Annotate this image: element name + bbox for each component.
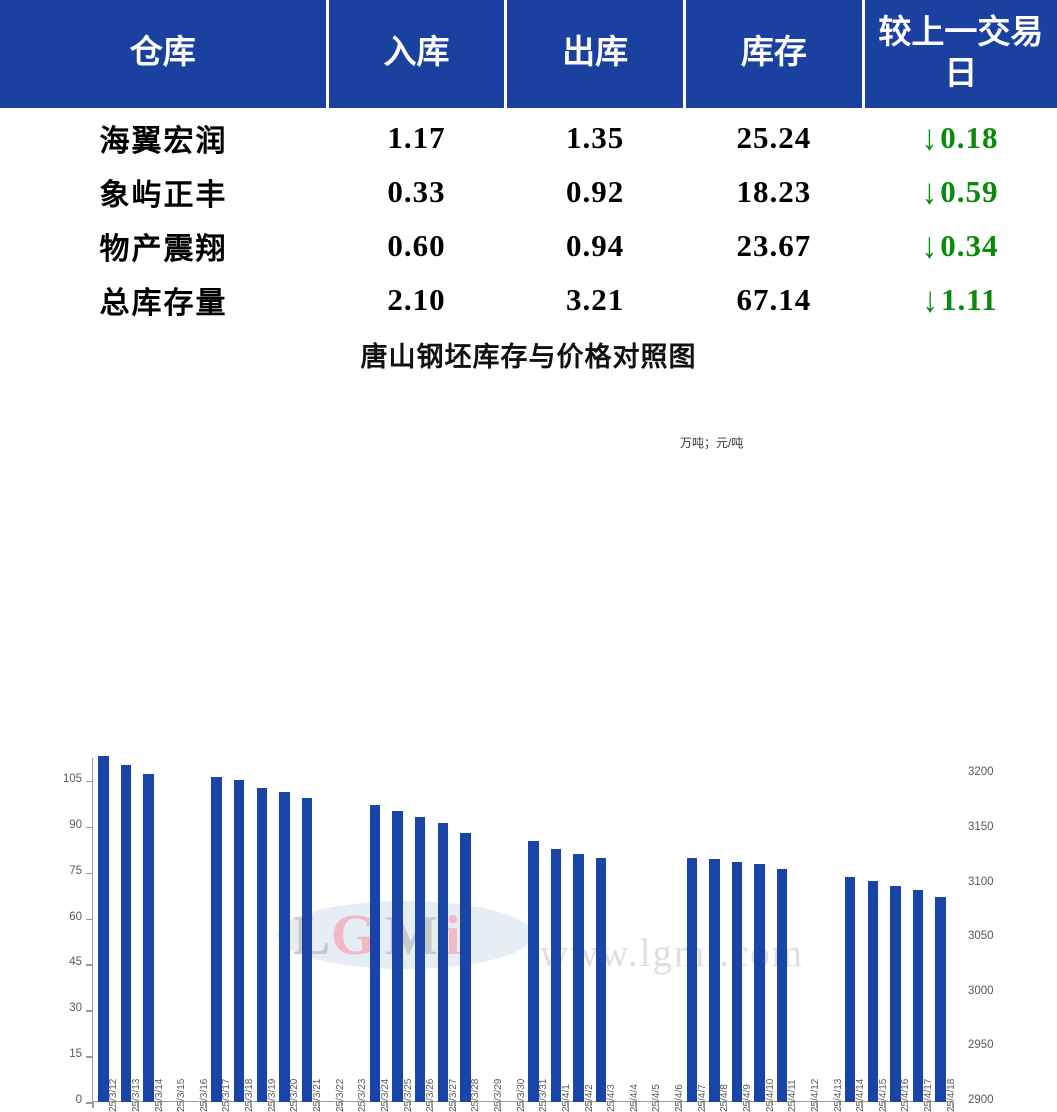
x-axis-tick-mark [816, 1102, 818, 1108]
chart-bar [868, 881, 878, 1102]
cell-inbound: 0.60 [327, 219, 506, 273]
column-header-change: 较上一交易日 [863, 0, 1057, 110]
y2-axis-tick-label: 3150 [968, 821, 1008, 833]
x-axis-tick-mark [613, 1102, 615, 1108]
table-body: 海翼宏润1.171.3525.24↓0.18象屿正丰0.330.9218.23↓… [0, 110, 1057, 328]
column-header-warehouse: 仓库 [0, 0, 327, 110]
table-row: 物产震翔0.600.9423.67↓0.34 [0, 219, 1057, 273]
x-axis-tick-mark [409, 1102, 411, 1108]
chart-bar [370, 805, 380, 1102]
cell-change: ↓1.11 [863, 273, 1057, 327]
y-axis-tick-label: 15 [48, 1048, 82, 1060]
column-header-outbound: 出库 [506, 0, 685, 110]
cell-change: ↓0.18 [863, 110, 1057, 166]
y-axis-tick-mark [86, 827, 92, 829]
y-axis-tick-label: 30 [48, 1002, 82, 1014]
column-header-inbound: 入库 [327, 0, 506, 110]
cell-change-value: 1.11 [941, 282, 998, 317]
chart-bar [279, 792, 289, 1102]
x-axis-tick-mark [680, 1102, 682, 1108]
chart-bar [143, 774, 153, 1102]
y-axis-tick-mark [86, 781, 92, 783]
cell-change-value: 0.18 [940, 120, 998, 155]
chart-bar [121, 765, 131, 1102]
x-axis-tick-mark [748, 1102, 750, 1108]
x-axis-tick-mark [929, 1102, 931, 1108]
warehouse-table: 仓库 入库 出库 库存 较上一交易日 海翼宏润1.171.3525.24↓0.1… [0, 0, 1057, 327]
x-axis-tick-mark [296, 1102, 298, 1108]
x-axis-tick-mark [273, 1102, 275, 1108]
y-axis-tick-label: 0 [48, 1094, 82, 1106]
table-row: 海翼宏润1.171.3525.24↓0.18 [0, 110, 1057, 166]
x-axis-tick-mark [567, 1102, 569, 1108]
cell-warehouse-name: 海翼宏润 [0, 110, 327, 166]
x-axis-tick-mark [907, 1102, 909, 1108]
y-axis-tick-label: 60 [48, 911, 82, 923]
x-axis-tick-mark [364, 1102, 366, 1108]
table-row: 总库存量2.103.2167.14↓1.11 [0, 273, 1057, 327]
arrow-down-icon: ↓ [922, 117, 939, 158]
chart-bar [845, 877, 855, 1102]
x-axis-tick-mark [341, 1102, 343, 1108]
cell-outbound: 0.94 [506, 219, 685, 273]
chart-bar [460, 833, 470, 1102]
x-axis-tick-mark [635, 1102, 637, 1108]
chart-bar [98, 756, 108, 1102]
chart-bar [754, 864, 764, 1102]
x-axis-tick-mark [92, 1102, 94, 1108]
chart-bar [709, 859, 719, 1102]
x-axis-tick-mark [703, 1102, 705, 1108]
x-axis-tick-mark [250, 1102, 252, 1108]
x-axis-tick-mark [590, 1102, 592, 1108]
cell-inbound: 0.33 [327, 165, 506, 219]
chart-bar [234, 780, 244, 1102]
x-axis-tick-mark [318, 1102, 320, 1108]
chart-bar [913, 890, 923, 1102]
cell-warehouse-name: 象屿正丰 [0, 165, 327, 219]
x-axis-tick-mark [861, 1102, 863, 1108]
y-axis-tick-label: 75 [48, 865, 82, 877]
y2-axis-tick-label: 3200 [968, 766, 1008, 778]
chart-bar [257, 788, 267, 1102]
cell-stock: 18.23 [684, 165, 863, 219]
cell-change: ↓0.34 [863, 219, 1057, 273]
chart-bar [551, 849, 561, 1102]
y-axis-tick-mark [86, 1056, 92, 1058]
chart-bar [573, 854, 583, 1102]
x-axis-tick-mark [658, 1102, 660, 1108]
cell-warehouse-name: 物产震翔 [0, 219, 327, 273]
y-axis-tick-mark [86, 964, 92, 966]
chart-bar [438, 823, 448, 1102]
chart-bar [890, 886, 900, 1102]
x-axis-tick-mark [454, 1102, 456, 1108]
y2-axis-tick-label: 3000 [968, 985, 1008, 997]
cell-change-value: 0.59 [940, 174, 998, 209]
chart-bar [528, 841, 538, 1102]
arrow-down-icon: ↓ [922, 225, 939, 266]
column-header-stock: 库存 [684, 0, 863, 110]
y2-axis-tick-label: 2900 [968, 1094, 1008, 1106]
chart-bar [935, 897, 945, 1102]
chart-bar [732, 862, 742, 1102]
plot-area: 0153045607590105290029503000305031003150… [0, 327, 1057, 878]
y2-axis-tick-label: 3100 [968, 876, 1008, 888]
x-axis-tick-mark [431, 1102, 433, 1108]
x-axis-tick-mark [183, 1102, 185, 1108]
table-row: 象屿正丰0.330.9218.23↓0.59 [0, 165, 1057, 219]
x-axis-tick-mark [386, 1102, 388, 1108]
x-axis-tick-mark [726, 1102, 728, 1108]
chart-bar [392, 811, 402, 1102]
cell-stock: 67.14 [684, 273, 863, 327]
arrow-down-icon: ↓ [923, 279, 940, 320]
cell-inbound: 2.10 [327, 273, 506, 327]
cell-stock: 25.24 [684, 110, 863, 166]
y2-axis-tick-label: 2950 [968, 1039, 1008, 1051]
x-axis-tick-mark [794, 1102, 796, 1108]
chart-bar [415, 817, 425, 1102]
x-axis-tick-mark [522, 1102, 524, 1108]
x-axis-tick-mark [545, 1102, 547, 1108]
cell-inbound: 1.17 [327, 110, 506, 166]
arrow-down-icon: ↓ [922, 171, 939, 212]
table-header-row: 仓库 入库 出库 库存 较上一交易日 [0, 0, 1057, 110]
x-axis-tick-mark [884, 1102, 886, 1108]
chart-container: 唐山钢坯库存与价格对照图 万吨；元/吨 L G M i www.lgmi.com… [0, 327, 1057, 878]
x-axis-tick-mark [115, 1102, 117, 1108]
y-axis-tick-mark [86, 873, 92, 875]
x-axis-tick-mark [952, 1102, 954, 1108]
cell-change: ↓0.59 [863, 165, 1057, 219]
cell-outbound: 0.92 [506, 165, 685, 219]
cell-outbound: 3.21 [506, 273, 685, 327]
y2-axis-tick-label: 3050 [968, 930, 1008, 942]
x-axis-tick-mark [205, 1102, 207, 1108]
y-axis-tick-label: 45 [48, 956, 82, 968]
x-axis-tick-mark [228, 1102, 230, 1108]
chart-bar [211, 777, 221, 1102]
y-axis-tick-mark [86, 1010, 92, 1012]
y-axis-tick-mark [86, 919, 92, 921]
cell-warehouse-name: 总库存量 [0, 273, 327, 327]
chart-bar [777, 869, 787, 1102]
x-axis-tick-mark [477, 1102, 479, 1108]
x-axis-tick-mark [771, 1102, 773, 1108]
x-axis-tick-mark [839, 1102, 841, 1108]
cell-outbound: 1.35 [506, 110, 685, 166]
y-axis-tick-label: 105 [48, 773, 82, 785]
cell-change-value: 0.34 [940, 228, 998, 263]
x-axis-tick-mark [160, 1102, 162, 1108]
cell-stock: 23.67 [684, 219, 863, 273]
x-axis-tick-mark [499, 1102, 501, 1108]
chart-bar [302, 798, 312, 1102]
x-axis-tick-mark [137, 1102, 139, 1108]
y-axis-tick-label: 90 [48, 819, 82, 831]
